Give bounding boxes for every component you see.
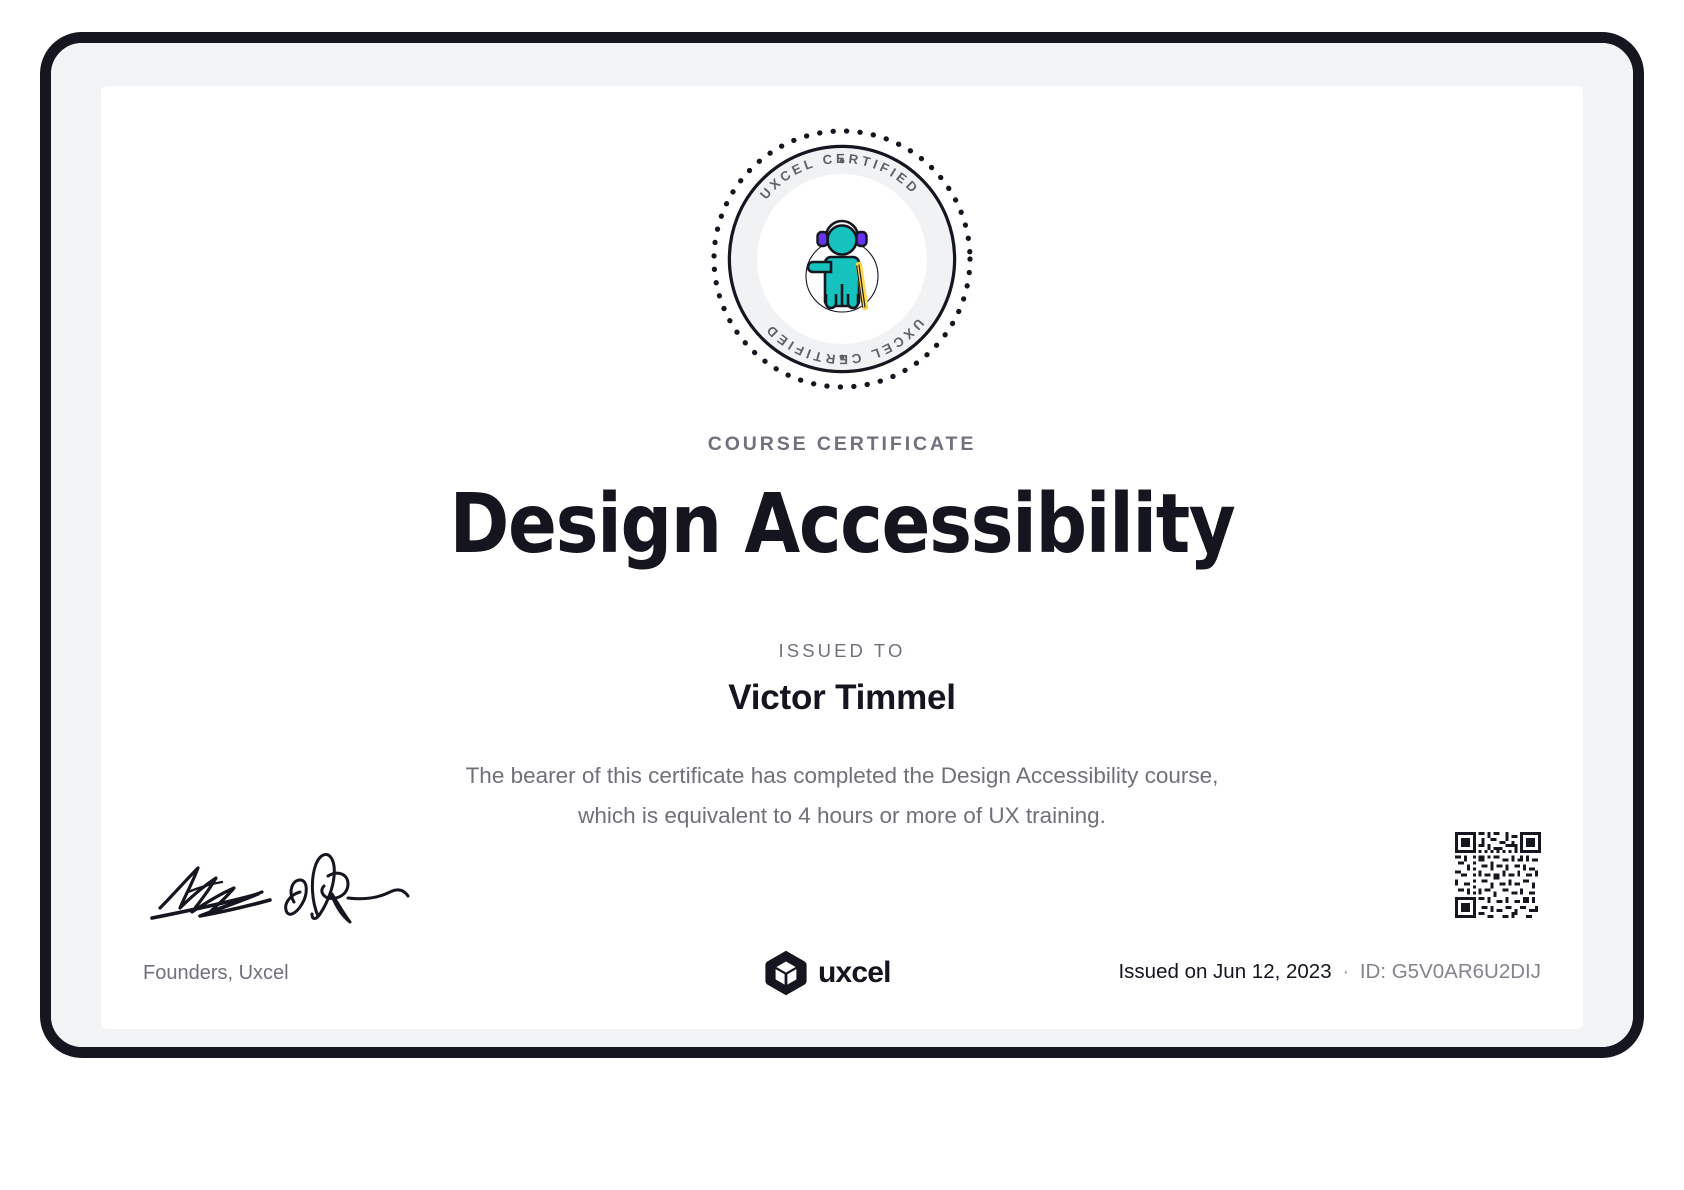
uxcel-hexagon-icon [765,950,807,996]
uxcel-wordmark: uxcel [818,958,891,988]
certificate-card: UXCEL CERTIFIED UXCEL CERTIFIED [101,86,1583,1029]
founder-signatures [142,846,442,936]
badge-graphic: UXCEL CERTIFIED UXCEL CERTIFIED [707,124,977,394]
qr-code-graphic[interactable] [1455,832,1541,918]
qr-code[interactable] [1455,832,1541,918]
recipient-name: Victor Timmel [101,678,1583,718]
meta-separator: · [1337,960,1354,983]
course-certificate-kicker: COURSE CERTIFICATE [101,433,1583,456]
founders-label: Founders, Uxcel [143,962,289,985]
credential-id: ID: G5V0AR6U2DIJ [1360,960,1541,983]
description-line-1: The bearer of this certificate has compl… [101,756,1583,796]
uxcel-logo: uxcel [765,950,891,996]
uxcel-certified-badge: UXCEL CERTIFIED UXCEL CERTIFIED [707,124,977,394]
description-line-2: which is equivalent to 4 hours or more o… [101,796,1583,836]
issue-meta: Issued on Jun 12, 2023 · ID: G5V0AR6U2DI… [1118,960,1541,984]
page-title: Design Accessibility [190,476,1494,574]
signature-graphic [142,846,442,936]
issued-to-label: ISSUED TO [101,640,1583,662]
badge-ring-dot-top [840,159,845,164]
person-with-headphones-and-cane-illustration [806,221,878,312]
badge-ring-dot-bottom [840,355,845,360]
certificate-frame: UXCEL CERTIFIED UXCEL CERTIFIED [40,32,1644,1058]
issue-date: Issued on Jun 12, 2023 [1118,960,1331,983]
certificate-inner-border: UXCEL CERTIFIED UXCEL CERTIFIED [51,43,1633,1047]
certificate-description: The bearer of this certificate has compl… [101,756,1583,836]
